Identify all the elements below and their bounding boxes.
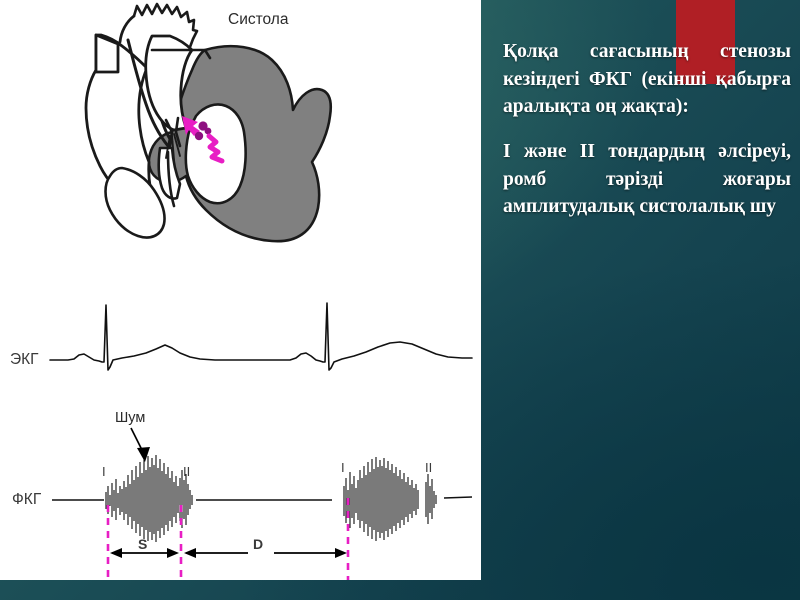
slide: Систола ЭКГ ФКГ Шум I II I II bbox=[0, 0, 800, 600]
pcg-beat1-systolic-murmur bbox=[122, 455, 178, 542]
pcg-beat1-s1-label: I bbox=[102, 464, 106, 479]
pcg-beat1-s2-label: II bbox=[183, 464, 190, 479]
pcg-beat1-s1-burst bbox=[106, 479, 120, 520]
aortic-arch-left-limb bbox=[120, 16, 134, 42]
pcg-section: ФКГ Шум I II I II bbox=[12, 410, 472, 580]
pcg-beat2-s2-burst bbox=[426, 474, 436, 524]
slide-text-column: Қолқа сағасының стенозы кезіндегі ФКГ (е… bbox=[503, 38, 791, 221]
pcg-beat2-s2-label: II bbox=[425, 460, 432, 475]
slide-paragraph-title: Қолқа сағасының стенозы кезіндегі ФКГ (е… bbox=[503, 38, 791, 121]
pcg-beat2-s1-label: I bbox=[341, 460, 345, 475]
pcg-beat2-systolic-murmur bbox=[358, 457, 418, 541]
murmur-label: Шум bbox=[115, 410, 145, 426]
heart-diagram: Систола bbox=[86, 4, 331, 241]
turbulence-blob bbox=[205, 128, 212, 135]
turbulence-blob bbox=[195, 132, 203, 140]
systole-interval-marker: S bbox=[110, 536, 179, 558]
diastole-interval-marker: D bbox=[184, 536, 347, 559]
diastole-interval-label: D bbox=[253, 536, 263, 552]
pcg-label: ФКГ bbox=[12, 491, 42, 508]
ecg-label: ЭКГ bbox=[10, 351, 39, 368]
systole-interval-label: S bbox=[138, 536, 147, 552]
figure-panel: Систола ЭКГ ФКГ Шум I II I II bbox=[0, 0, 481, 580]
ecg-section: ЭКГ bbox=[10, 303, 472, 370]
pcg-baseline bbox=[52, 497, 472, 500]
pcg-beat2-s1-burst bbox=[344, 472, 356, 528]
slide-paragraph-findings: I және II тондардың әлсіреуі, ромб тәріз… bbox=[503, 138, 791, 221]
heart-phase-label: Систола bbox=[228, 11, 289, 28]
ecg-trace bbox=[50, 303, 472, 370]
